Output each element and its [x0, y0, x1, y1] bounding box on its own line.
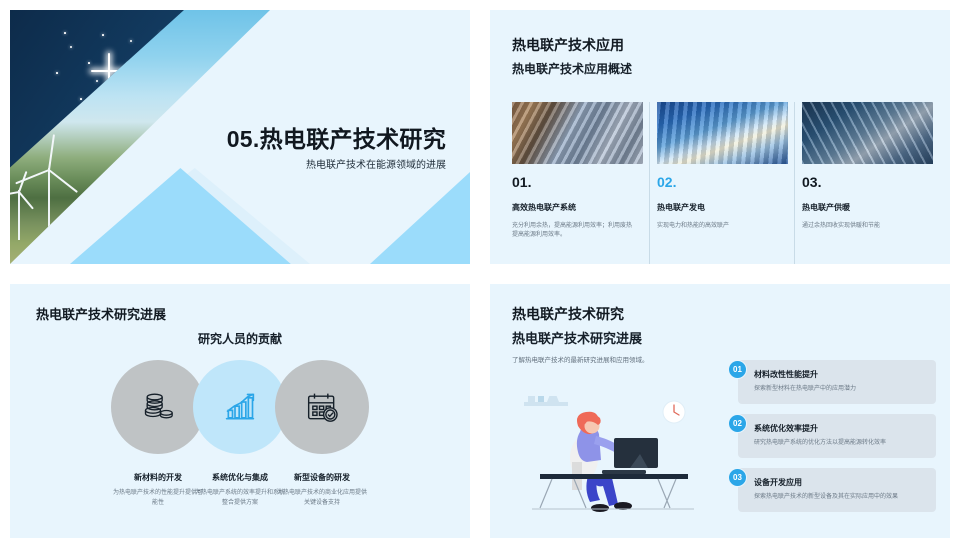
research-item[interactable]: 01 材料改性性能提升 探索新型材料在热电联产中的应用潜力 [728, 360, 936, 404]
application-card[interactable]: 03. 热电联产供暖 通过余热回收实现供暖和节能 [802, 102, 933, 241]
contribution-title: 新材料的开发 [113, 472, 203, 483]
card-number: 03. [802, 174, 933, 190]
item-description: 探索新型材料在热电联产中的应用潜力 [754, 385, 926, 394]
contribution-description: 为热电联产系统的效率提升和系统整合提供方案 [195, 489, 285, 508]
contribution-item: 新材料的开发 为热电联产技术的性能提升提供可能性 [111, 472, 205, 508]
slide-application: 热电联产技术应用 热电联产技术应用概述 01. 高效热电联产系统 充分利用余热，… [480, 0, 960, 274]
item-title: 系统优化效率提升 [754, 423, 926, 434]
section-subheading: 热电联产技术应用概述 [512, 60, 632, 77]
contribution-item: 系统优化与集成 为热电联产系统的效率提升和系统整合提供方案 [193, 472, 287, 508]
card-description: 通过余热回收实现供暖和节能 [802, 222, 926, 231]
contribution-title: 系统优化与集成 [195, 472, 285, 483]
application-card-list: 01. 高效热电联产系统 充分利用余热，提高能源利用效率；利用废热提高能源利用效… [512, 102, 932, 241]
decor-triangle-blue [70, 168, 300, 264]
page-subtitle: 热电联产技术在能源领域的进展 [306, 156, 446, 171]
item-description: 研究热电联产系统的优化方法以提高能源转化效率 [754, 439, 926, 448]
glass-tower-photo [802, 102, 933, 164]
contribution-circle[interactable] [193, 360, 287, 454]
slide-research: 热电联产技术研究 热电联产技术研究进展 了解热电联产技术的最新研究进展和应用领域… [480, 274, 960, 548]
card-divider [794, 102, 795, 264]
section-subheading: 研究人员的贡献 [10, 330, 470, 347]
calendar-check-icon [302, 387, 342, 427]
slide-contribution: 热电联产技术研究进展 研究人员的贡献 [0, 274, 480, 548]
application-card[interactable]: 02. 热电联产发电 实现电力和热能的高效联产 [657, 102, 788, 241]
contribution-item: 新型设备的研发 为热电联产技术的商业化应用提供关键设备支持 [275, 472, 369, 508]
item-title: 设备开发应用 [754, 477, 926, 488]
woman-at-desk-illustration [518, 396, 708, 516]
card-description: 实现电力和热能的高效联产 [657, 222, 781, 231]
card-number: 01. [512, 174, 643, 190]
coins-stack-icon [138, 387, 178, 427]
item-title: 材料改性性能提升 [754, 369, 926, 380]
research-item[interactable]: 03 设备开发应用 探索热电联产技术的新型设备及其在实际应用中的效果 [728, 468, 936, 512]
wall-shelf-icon [524, 396, 568, 406]
item-number-badge: 02 [728, 414, 747, 433]
slide-title: 05.热电联产技术研究 热电联产技术在能源领域的进展 [0, 0, 480, 274]
page-title: 05.热电联产技术研究 [227, 120, 446, 154]
section-heading: 热电联产技术研究 [512, 304, 624, 324]
star-burst-icon [108, 70, 111, 73]
contribution-description: 为热电联产技术的商业化应用提供关键设备支持 [277, 489, 367, 508]
contribution-label-row: 新材料的开发 为热电联产技术的性能提升提供可能性 系统优化与集成 为热电联产系统… [10, 472, 470, 508]
card-number: 02. [657, 174, 788, 190]
section-intro: 了解热电联产技术的最新研究进展和应用领域。 [512, 354, 649, 364]
building-facade-photo [512, 102, 643, 164]
research-item[interactable]: 02 系统优化效率提升 研究热电联产系统的优化方法以提高能源转化效率 [728, 414, 936, 458]
card-divider [649, 102, 650, 264]
section-heading: 热电联产技术研究进展 [36, 304, 166, 323]
card-description: 充分利用余热，提高能源利用效率；利用废热提高能源利用效率。 [512, 222, 636, 241]
section-heading: 热电联产技术应用 [512, 35, 624, 55]
card-title: 高效热电联产系统 [512, 202, 643, 213]
contribution-title: 新型设备的研发 [277, 472, 367, 483]
contribution-description: 为热电联产技术的性能提升提供可能性 [113, 489, 203, 508]
research-item-list: 01 材料改性性能提升 探索新型材料在热电联产中的应用潜力 02 系统优化效率提… [728, 360, 936, 522]
item-number-badge: 03 [728, 468, 747, 487]
growth-chart-icon [220, 387, 260, 427]
wall-clock-icon [663, 401, 685, 423]
section-subheading: 热电联产技术研究进展 [512, 328, 642, 347]
contribution-icon-row [10, 360, 470, 454]
item-description: 探索热电联产技术的新型设备及其在实际应用中的效果 [754, 493, 926, 502]
contribution-circle[interactable] [111, 360, 205, 454]
application-card[interactable]: 01. 高效热电联产系统 充分利用余热，提高能源利用效率；利用废热提高能源利用效… [512, 102, 643, 241]
decor-triangle-corner [370, 172, 470, 264]
slide-deck: 05.热电联产技术研究 热电联产技术在能源领域的进展 热电联产技术应用 热电联产… [0, 0, 960, 548]
card-title: 热电联产供暖 [802, 202, 933, 213]
contribution-circle[interactable] [275, 360, 369, 454]
glass-skyscraper-photo [657, 102, 788, 164]
card-title: 热电联产发电 [657, 202, 788, 213]
item-number-badge: 01 [728, 360, 747, 379]
